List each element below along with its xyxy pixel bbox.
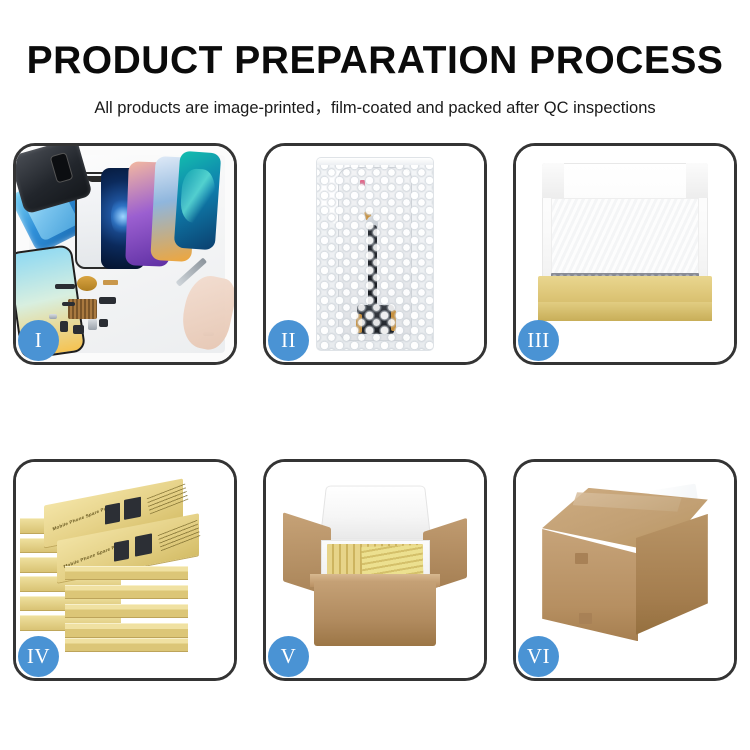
carton-handle-notch-bottom [579,613,592,624]
small-ic-chip [99,319,108,328]
bubble-wrap-bag [316,157,434,351]
sim-tray [88,319,97,330]
step-badge-5: V [268,636,309,677]
stacked-box-slab [65,638,188,652]
header: PRODUCT PREPARATION PROCESS All products… [0,0,750,117]
step-badge-6: VI [518,636,559,677]
box-thumbnail-a [114,540,130,562]
stacked-box-slab [65,566,188,580]
gold-tray-front-edge [538,302,712,321]
flex-cable-a [103,280,118,285]
camera-module [60,321,69,332]
gold-coil-part [77,276,97,291]
connector-strip [62,302,75,306]
process-step-panel-2[interactable]: II [263,143,487,365]
page-title: PRODUCT PREPARATION PROCESS [0,0,750,80]
speaker-mesh-part [55,284,75,288]
bubble-texture-overlay [317,158,433,350]
process-step-panel-3[interactable]: III [513,143,737,365]
stacked-box-slab [65,604,188,618]
page-subtitle: All products are image-printed，film-coat… [0,80,750,117]
process-step-panel-5[interactable]: V [263,459,487,681]
box-spec-lines [147,484,188,515]
process-step-panel-6[interactable]: VI [513,459,737,681]
carton-front-face [542,529,638,641]
stacked-box-slab [65,585,188,599]
white-foam-sheet [551,198,699,276]
front-box-stack: Mobile Phone Spare Parts Mobile Phone Sp… [44,492,205,652]
screw-set [49,314,58,318]
process-step-panel-4[interactable]: Mobile Phone Spare Parts Mobile Phone Sp… [13,459,237,681]
vibrator-motor [73,325,84,334]
lid-flap-right [686,163,708,198]
box-spec-lines [158,520,200,551]
process-step-grid: I [13,143,737,681]
teal-gradient-phone [174,151,222,251]
bag-seal-edge [317,158,433,166]
step-badge-4: IV [18,636,59,677]
process-step-panel-1[interactable]: I [13,143,237,365]
step-badge-1: I [18,320,59,361]
step-badge-3: III [518,320,559,361]
carton-handle-notch-top [575,553,588,564]
stacked-box-slab [65,623,188,637]
flex-cable-b [99,297,116,303]
box-thumbnail-a [105,503,120,525]
box-thumbnail-b [125,497,142,520]
step-badge-2: II [268,320,309,361]
product-preparation-process-page: PRODUCT PREPARATION PROCESS All products… [0,0,750,750]
carton-body [314,581,436,646]
lid-flap-left [542,163,564,198]
foam-lid [319,486,430,541]
box-thumbnail-b [135,533,152,556]
